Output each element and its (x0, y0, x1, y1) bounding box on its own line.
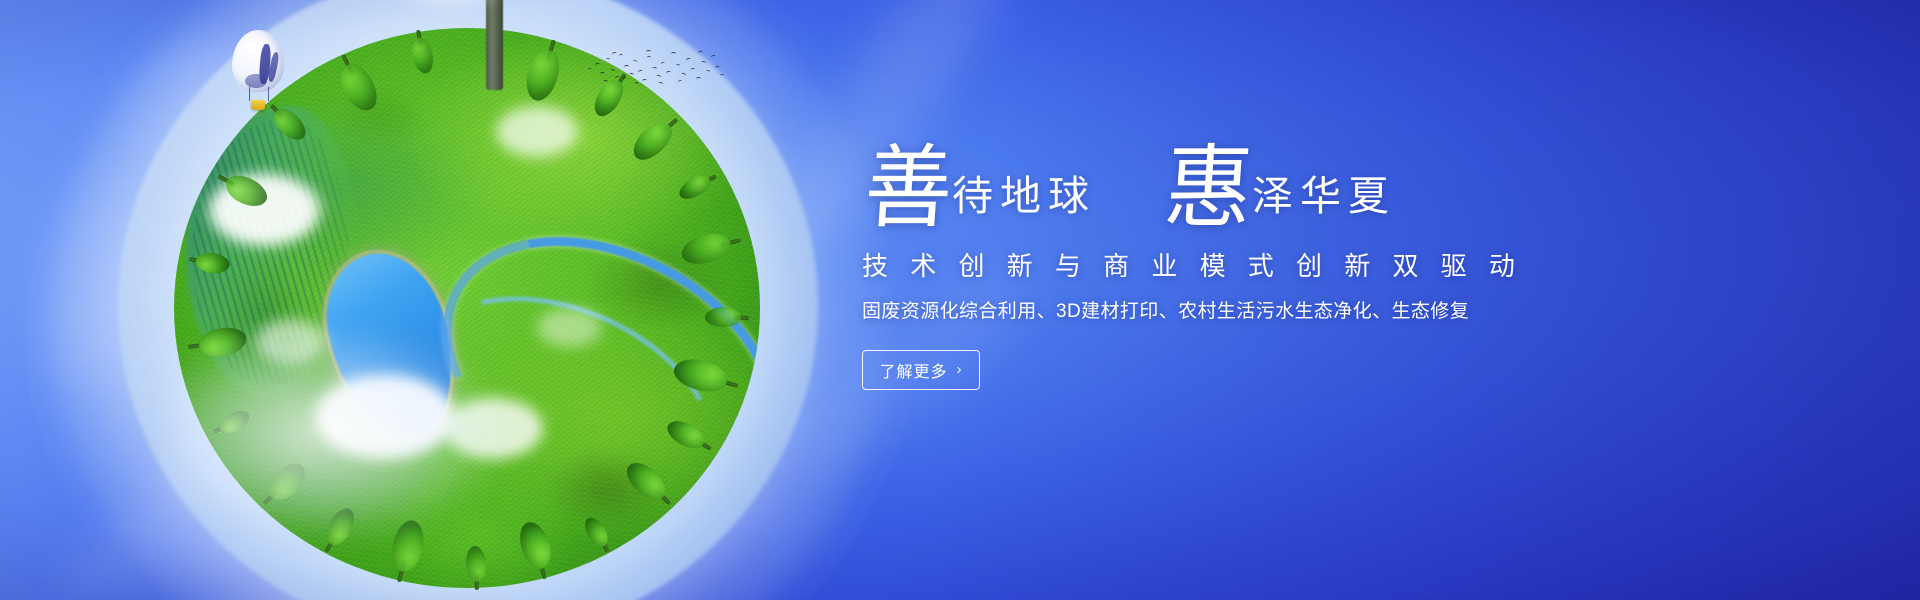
cta-row: 了解更多 › (862, 350, 1622, 390)
headline-char-shan: 善 (862, 147, 955, 230)
headline-tail-zehuaxia: 泽华夏 (1252, 176, 1396, 230)
hero-banner: 善 待地球 惠 泽华夏 技 术 创 新 与 商 业 模 式 创 新 双 驱 动 … (0, 0, 1920, 600)
hero-copy: 善 待地球 惠 泽华夏 技 术 创 新 与 商 业 模 式 创 新 双 驱 动 … (862, 126, 1622, 390)
headline-tail-daidiqiu: 待地球 (952, 176, 1096, 230)
learn-more-label: 了解更多 (879, 358, 947, 382)
headline-char-hui: 惠 (1162, 147, 1255, 230)
hero-description: 固废资源化综合利用、3D建材打印、农村生活污水生态净化、生态修复 (862, 300, 1622, 325)
learn-more-button[interactable]: 了解更多 › (862, 350, 980, 390)
chevron-right-icon: › (957, 362, 963, 377)
hero-subtitle: 技 术 创 新 与 商 业 模 式 创 新 双 驱 动 (862, 250, 1622, 283)
page-title: 善 待地球 惠 泽华夏 (862, 126, 1622, 230)
